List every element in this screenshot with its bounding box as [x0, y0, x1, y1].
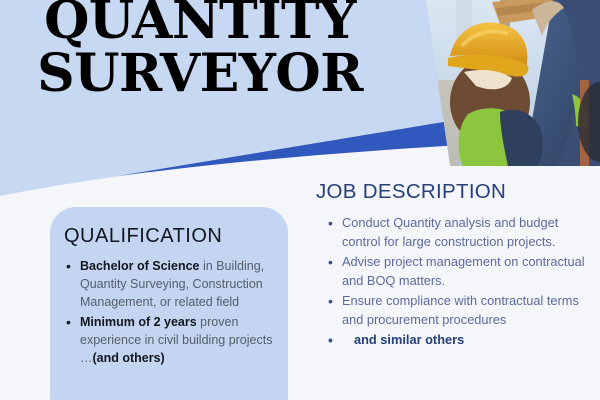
qualification-item-bold: Minimum of 2 years — [80, 315, 197, 329]
qualification-title: QUALIFICATION — [64, 225, 288, 248]
qualification-item: Bachelor of Science in Building, Quantit… — [80, 258, 276, 311]
qualification-item-bold: Bachelor of Science — [80, 259, 200, 273]
job-poster: QUANTITY SURVEYOR — [0, 0, 600, 400]
job-description-section: JOB DESCRIPTION Conduct Quantity analysi… — [316, 180, 588, 352]
job-description-item: Conduct Quantity analysis and budget con… — [342, 214, 588, 251]
job-description-item: and similar others — [342, 331, 588, 350]
qualification-card: QUALIFICATION Bachelor of Science in Bui… — [50, 207, 288, 400]
qualification-item: Minimum of 2 years proven experience in … — [80, 314, 276, 367]
job-description-title: JOB DESCRIPTION — [316, 180, 588, 204]
job-description-list: Conduct Quantity analysis and budget con… — [316, 214, 588, 350]
job-description-item: Ensure compliance with contractual terms… — [342, 292, 588, 329]
qualification-list: Bachelor of Science in Building, Quantit… — [50, 258, 288, 368]
job-description-item: Advise project management on contractual… — [342, 253, 588, 290]
qualification-item-bold-tail: (and others) — [93, 351, 165, 365]
